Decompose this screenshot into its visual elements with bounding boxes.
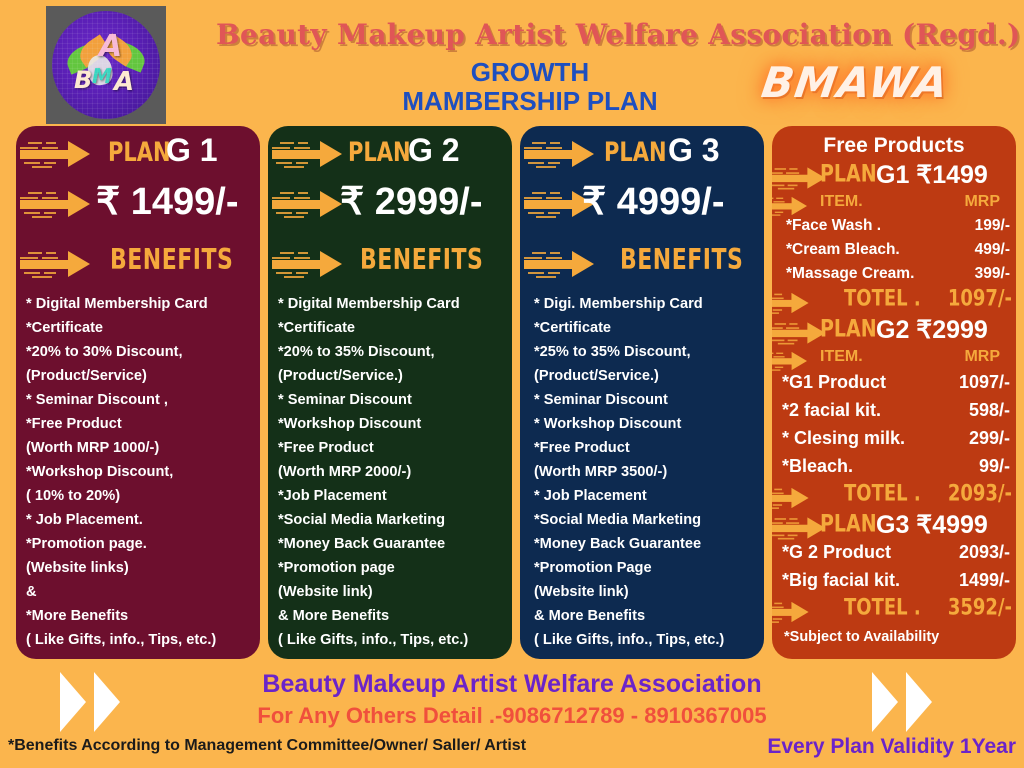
arrow-icon (772, 292, 812, 314)
headline-membership-plan: MAMBERSHIP PLAN (330, 87, 730, 116)
arrow-icon (524, 250, 598, 278)
logo-letter-a-top: A (99, 29, 122, 64)
plan-card-g3[interactable]: PLAN G 3 ₹ 4999/- BENEFITS * Digi. Membe… (520, 126, 764, 659)
plan-price-row: ₹ 4999/- (520, 184, 764, 230)
benefit-list-g1: * Digital Membership Card*Certificate*20… (26, 292, 256, 652)
arrow-icon (772, 601, 812, 623)
item-name: * Clesing milk. (782, 428, 905, 449)
plan-word-label: PLAN (348, 137, 411, 167)
benefit-item: ( Like Gifts, info., Tips, etc.) (534, 628, 760, 652)
benefit-item: *Job Placement (278, 484, 508, 508)
arrow-icon (772, 487, 812, 509)
arrow-icon (272, 140, 346, 168)
benefit-item: (Website link) (534, 580, 760, 604)
free-plan-code-price: G1 ₹1499 (876, 160, 988, 190)
footer-contact[interactable]: For Any Others Detail .-9086712789 - 891… (180, 703, 844, 729)
benefit-item: *More Benefits (26, 604, 256, 628)
free-products-total-row: TOTEL .2093/- (772, 484, 1016, 510)
plan-title-row: PLAN G 3 (520, 134, 764, 174)
benefit-item: * Digital Membership Card (26, 292, 256, 316)
plan-headline: GROWTH MAMBERSHIP PLAN (330, 58, 730, 116)
free-products-card[interactable]: Free Products PLANG1 ₹1499ITEM.MRP*Face … (772, 126, 1016, 659)
free-plan-code-price: G3 ₹4999 (876, 510, 988, 540)
plan-word-label: PLAN (108, 137, 171, 167)
benefits-label: BENEFITS (620, 244, 743, 277)
plan-word-label: PLAN (820, 510, 877, 538)
plan-price-g3: ₹ 4999/- (582, 179, 724, 224)
benefit-item: * Seminar Discount (534, 388, 760, 412)
poster-header: A B M A Beauty Makeup Artist Welfare Ass… (0, 0, 1024, 124)
free-products-plan-row-g2: PLANG2 ₹2999 (772, 317, 1016, 347)
benefit-item: *20% to 30% Discount, (26, 340, 256, 364)
benefit-item: * Workshop Discount (534, 412, 760, 436)
free-product-item: *Big facial kit.1499/- (772, 570, 1016, 594)
total-label: TOTEL . (844, 480, 921, 506)
mrp-column-header: MRP (964, 193, 1000, 211)
benefit-item: & More Benefits (534, 604, 760, 628)
leaf-icon (109, 39, 149, 72)
benefit-item: *20% to 35% Discount, (278, 340, 508, 364)
item-mrp: 1097/- (959, 372, 1010, 393)
plan-price-g1: ₹ 1499/- (96, 179, 238, 224)
footer-validity: Every Plan Validity 1Year (767, 735, 1016, 759)
plan-cards-row: PLAN G 1 ₹ 1499/- BENEFITS * Digital Mem… (0, 126, 1024, 664)
benefits-header-row: BENEFITS (520, 244, 764, 284)
item-name: *Face Wash . (786, 217, 881, 235)
benefit-list-g3: * Digi. Membership Card*Certificate*25% … (534, 292, 760, 652)
arrow-icon (272, 250, 346, 278)
logo-letter-a-bottom: A (114, 67, 134, 97)
benefit-item: *Free Product (534, 436, 760, 460)
logo-letter-m: M (92, 64, 112, 88)
item-mrp: 1499/- (959, 570, 1010, 591)
free-product-item: * Clesing milk.299/- (772, 428, 1016, 452)
benefit-item: ( Like Gifts, info., Tips, etc.) (278, 628, 508, 652)
arrow-icon (524, 140, 598, 168)
arrow-icon (20, 140, 94, 168)
benefit-item: * Digi. Membership Card (534, 292, 760, 316)
footer-association-name: Beauty Makeup Artist Welfare Association (180, 670, 844, 699)
item-mrp: 2093/- (959, 542, 1010, 563)
arrow-icon (20, 250, 94, 278)
item-name: *Big facial kit. (782, 570, 900, 591)
chevron-right-icon (60, 672, 180, 732)
item-mrp: 199/- (975, 217, 1010, 235)
benefit-item: (Product/Service.) (278, 364, 508, 388)
benefit-item: * Job Placement (534, 484, 760, 508)
free-product-item: *G 2 Product2093/- (772, 542, 1016, 566)
item-name: *G1 Product (782, 372, 886, 393)
benefits-label: BENEFITS (110, 244, 233, 277)
benefit-item: ( Like Gifts, info., Tips, etc.) (26, 628, 256, 652)
free-products-plan-row-g3: PLANG3 ₹4999 (772, 512, 1016, 542)
total-label: TOTEL . (844, 594, 921, 620)
free-product-item: *Face Wash .199/- (772, 217, 1016, 241)
item-name: *Bleach. (782, 456, 853, 477)
total-value: 2093/- (948, 480, 1012, 506)
benefit-item: * Job Placement. (26, 508, 256, 532)
benefit-item: *Social Media Marketing (534, 508, 760, 532)
item-column-header: ITEM. (820, 193, 863, 211)
benefit-item: * Seminar Discount (278, 388, 508, 412)
free-product-item: *Cream Bleach.499/- (772, 241, 1016, 265)
free-product-item: *2 facial kit.598/- (772, 400, 1016, 424)
item-mrp: 299/- (969, 428, 1010, 449)
plan-card-g2[interactable]: PLAN G 2 ₹ 2999/- BENEFITS * Digital Mem… (268, 126, 512, 659)
plan-word-label: PLAN (604, 137, 667, 167)
benefit-list-g2: * Digital Membership Card*Certificate*20… (278, 292, 508, 652)
benefit-item: *Workshop Discount, (26, 460, 256, 484)
plan-title-row: PLAN G 2 (268, 134, 512, 174)
free-product-item: *Bleach.99/- (772, 456, 1016, 480)
benefit-item: *Free Product (278, 436, 508, 460)
arrow-icon (772, 351, 810, 371)
benefit-item: *Certificate (534, 316, 760, 340)
benefit-item: *Money Back Guarantee (278, 532, 508, 556)
plan-code-g3: G 3 (668, 132, 720, 169)
benefit-item: *Workshop Discount (278, 412, 508, 436)
benefit-item: (Worth MRP 3500/-) (534, 460, 760, 484)
item-mrp: 399/- (975, 265, 1010, 283)
benefit-item: (Website link) (278, 580, 508, 604)
plan-code-g1: G 1 (166, 132, 218, 169)
benefit-item: *Certificate (278, 316, 508, 340)
item-name: *Massage Cream. (786, 265, 914, 283)
benefit-item: *Social Media Marketing (278, 508, 508, 532)
benefit-item: *Money Back Guarantee (534, 532, 760, 556)
total-value: 3592/- (948, 594, 1012, 620)
footer-disclaimer: *Benefits According to Management Commit… (8, 737, 526, 755)
benefit-item: *Promotion page (278, 556, 508, 580)
benefit-item: (Worth MRP 2000/-) (278, 460, 508, 484)
leaf-icon (86, 53, 115, 87)
benefit-item: (Worth MRP 1000/-) (26, 436, 256, 460)
free-products-total-row: TOTEL .1097/- (772, 289, 1016, 315)
benefit-item: & More Benefits (278, 604, 508, 628)
free-products-column-header: ITEM.MRP (772, 347, 1016, 371)
plan-price-g2: ₹ 2999/- (340, 179, 482, 224)
benefit-item: * Seminar Discount , (26, 388, 256, 412)
headline-growth: GROWTH (330, 58, 730, 87)
arrow-icon (20, 190, 94, 218)
association-title: Beauty Makeup Artist Welfare Association… (216, 18, 1006, 51)
plan-card-g1[interactable]: PLAN G 1 ₹ 1499/- BENEFITS * Digital Mem… (16, 126, 260, 659)
leaf-icon (101, 33, 137, 66)
plan-code-g2: G 2 (408, 132, 460, 169)
arrow-icon (772, 196, 810, 216)
benefit-item: *25% to 35% Discount, (534, 340, 760, 364)
plan-word-label: PLAN (820, 160, 877, 188)
benefits-header-row: BENEFITS (268, 244, 512, 284)
leaf-icon (63, 41, 103, 74)
benefit-item: ( 10% to 20%) (26, 484, 256, 508)
total-label: TOTEL . (844, 285, 921, 311)
free-products-total-row: TOTEL .3592/- (772, 598, 1016, 624)
benefits-header-row: BENEFITS (16, 244, 260, 284)
item-name: *2 facial kit. (782, 400, 881, 421)
plan-price-row: ₹ 2999/- (268, 184, 512, 230)
chevron-right-icon (872, 672, 992, 732)
brand-wordmark: BMAWA (759, 58, 952, 107)
free-products-column-header: ITEM.MRP (772, 192, 1016, 216)
benefit-item: *Free Product (26, 412, 256, 436)
availability-note: *Subject to Availability (784, 629, 939, 645)
plan-title-row: PLAN G 1 (16, 134, 260, 174)
benefit-item: (Product/Service) (26, 364, 256, 388)
plan-price-row: ₹ 1499/- (16, 184, 260, 230)
item-name: *Cream Bleach. (786, 241, 900, 259)
free-product-item: *G1 Product1097/- (772, 372, 1016, 396)
logo-globe-icon: A B M A (52, 11, 160, 119)
item-column-header: ITEM. (820, 348, 863, 366)
free-products-title: Free Products (772, 134, 1016, 158)
plan-word-label: PLAN (820, 315, 877, 343)
total-value: 1097/- (948, 285, 1012, 311)
logo-letter-b: B (74, 66, 92, 94)
benefit-item: * Digital Membership Card (278, 292, 508, 316)
leaf-icon (75, 34, 111, 67)
benefit-item: *Promotion page. (26, 532, 256, 556)
item-mrp: 99/- (979, 456, 1010, 477)
bmawa-logo: A B M A (46, 6, 166, 124)
arrow-icon (272, 190, 346, 218)
benefit-item: *Promotion Page (534, 556, 760, 580)
item-mrp: 499/- (975, 241, 1010, 259)
benefit-item: *Certificate (26, 316, 256, 340)
item-mrp: 598/- (969, 400, 1010, 421)
benefits-label: BENEFITS (360, 244, 483, 277)
free-plan-code-price: G2 ₹2999 (876, 315, 988, 345)
free-products-plan-row-g1: PLANG1 ₹1499 (772, 162, 1016, 192)
benefit-item: & (26, 580, 256, 604)
benefit-item: (Website links) (26, 556, 256, 580)
mrp-column-header: MRP (964, 348, 1000, 366)
item-name: *G 2 Product (782, 542, 891, 563)
benefit-item: (Product/Service.) (534, 364, 760, 388)
